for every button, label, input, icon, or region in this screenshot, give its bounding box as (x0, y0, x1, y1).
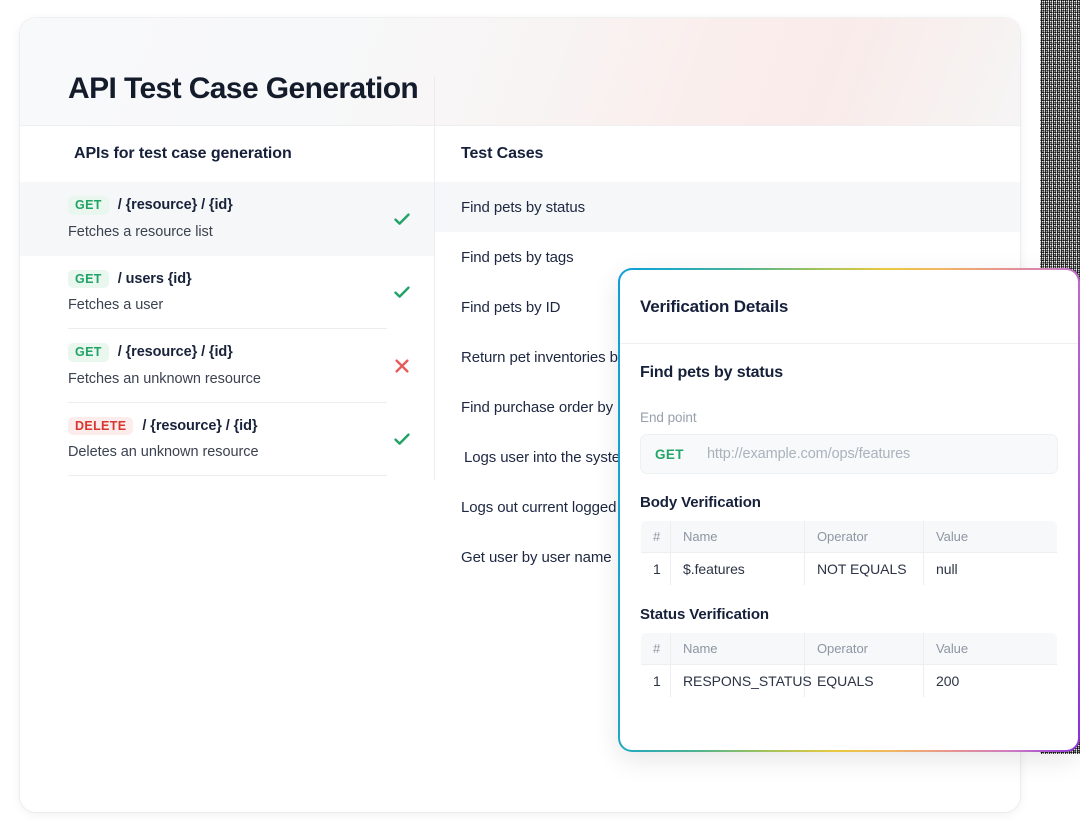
page-title: API Test Case Generation (68, 72, 418, 106)
api-description: Fetches an unknown resource (68, 371, 387, 387)
card-header: API Test Case Generation (20, 18, 1020, 126)
api-list: GET / {resource} / {id} Fetches a resour… (20, 182, 435, 476)
api-description: Deletes an unknown resource (68, 444, 387, 460)
check-icon (391, 281, 413, 303)
cell-name: RESPONS_STATUS (671, 665, 805, 698)
api-row-primary: DELETE / {resource} / {id} (68, 417, 387, 436)
cell-operator: EQUALS (805, 665, 924, 698)
verification-details-panel: Verification Details Find pets by status… (618, 268, 1080, 752)
test-cases-column-heading: Test Cases (435, 126, 1020, 182)
table-row: 1 $.features NOT EQUALS null (641, 553, 1058, 586)
api-list-item[interactable]: DELETE / {resource} / {id} Deletes an un… (20, 403, 435, 477)
col-name: Name (671, 521, 805, 553)
api-list-item[interactable]: GET / users {id} Fetches a user (20, 256, 435, 330)
cell-value: 200 (924, 665, 1058, 698)
table-header-row: # Name Operator Value (641, 633, 1058, 665)
col-index: # (641, 521, 671, 553)
http-method-badge: GET (68, 343, 109, 362)
table-header-row: # Name Operator Value (641, 521, 1058, 553)
cell-index: 1 (641, 553, 671, 586)
api-list-item[interactable]: GET / {resource} / {id} Fetches an unkno… (20, 329, 435, 403)
api-description: Fetches a resource list (68, 224, 387, 240)
col-value: Value (924, 521, 1058, 553)
col-operator: Operator (805, 633, 924, 665)
api-path: / {resource} / {id} (118, 344, 233, 360)
api-path: / {resource} / {id} (142, 418, 257, 434)
check-icon (391, 428, 413, 450)
verification-panel-title: Verification Details (620, 270, 1078, 344)
http-method-badge: DELETE (68, 417, 133, 436)
check-icon (391, 208, 413, 230)
cell-index: 1 (641, 665, 671, 698)
api-row-primary: GET / {resource} / {id} (68, 343, 387, 362)
endpoint-label: End point (640, 410, 1058, 425)
col-name: Name (671, 633, 805, 665)
verification-test-case-name: Find pets by status (640, 364, 1058, 382)
apis-column-heading: APIs for test case generation (20, 126, 435, 182)
col-operator: Operator (805, 521, 924, 553)
http-method-badge: GET (68, 270, 109, 289)
api-description: Fetches a user (68, 297, 387, 313)
endpoint-method-label: GET (655, 447, 684, 462)
col-value: Value (924, 633, 1058, 665)
endpoint-url-input[interactable]: http://example.com/ops/features (707, 446, 910, 462)
http-method-badge: GET (68, 196, 109, 215)
api-list-item[interactable]: GET / {resource} / {id} Fetches a resour… (20, 182, 435, 256)
cell-name: $.features (671, 553, 805, 586)
endpoint-input[interactable]: GET http://example.com/ops/features (640, 434, 1058, 474)
screenshot-root: API Test Case Generation APIs for test c… (0, 0, 1080, 834)
test-case-item[interactable]: Find pets by status (435, 182, 1020, 232)
cell-operator: NOT EQUALS (805, 553, 924, 586)
api-row-primary: GET / users {id} (68, 270, 387, 289)
body-verification-title: Body Verification (640, 494, 1058, 511)
status-verification-title: Status Verification (640, 606, 1058, 623)
body-verification-table: # Name Operator Value 1 $.features NOT E… (640, 520, 1058, 586)
apis-column: APIs for test case generation GET / {res… (20, 126, 435, 812)
cell-value: null (924, 553, 1058, 586)
api-row-primary: GET / {resource} / {id} (68, 196, 387, 215)
api-path: / users {id} (118, 271, 192, 287)
verification-panel-inner: Verification Details Find pets by status… (620, 270, 1078, 750)
cross-icon (391, 355, 413, 377)
row-divider (68, 475, 387, 476)
api-path: / {resource} / {id} (118, 197, 233, 213)
col-index: # (641, 633, 671, 665)
status-verification-table: # Name Operator Value 1 RESPONS_STATUS E… (640, 632, 1058, 698)
verification-panel-content: Find pets by status End point GET http:/… (620, 344, 1078, 698)
table-row: 1 RESPONS_STATUS EQUALS 200 (641, 665, 1058, 698)
